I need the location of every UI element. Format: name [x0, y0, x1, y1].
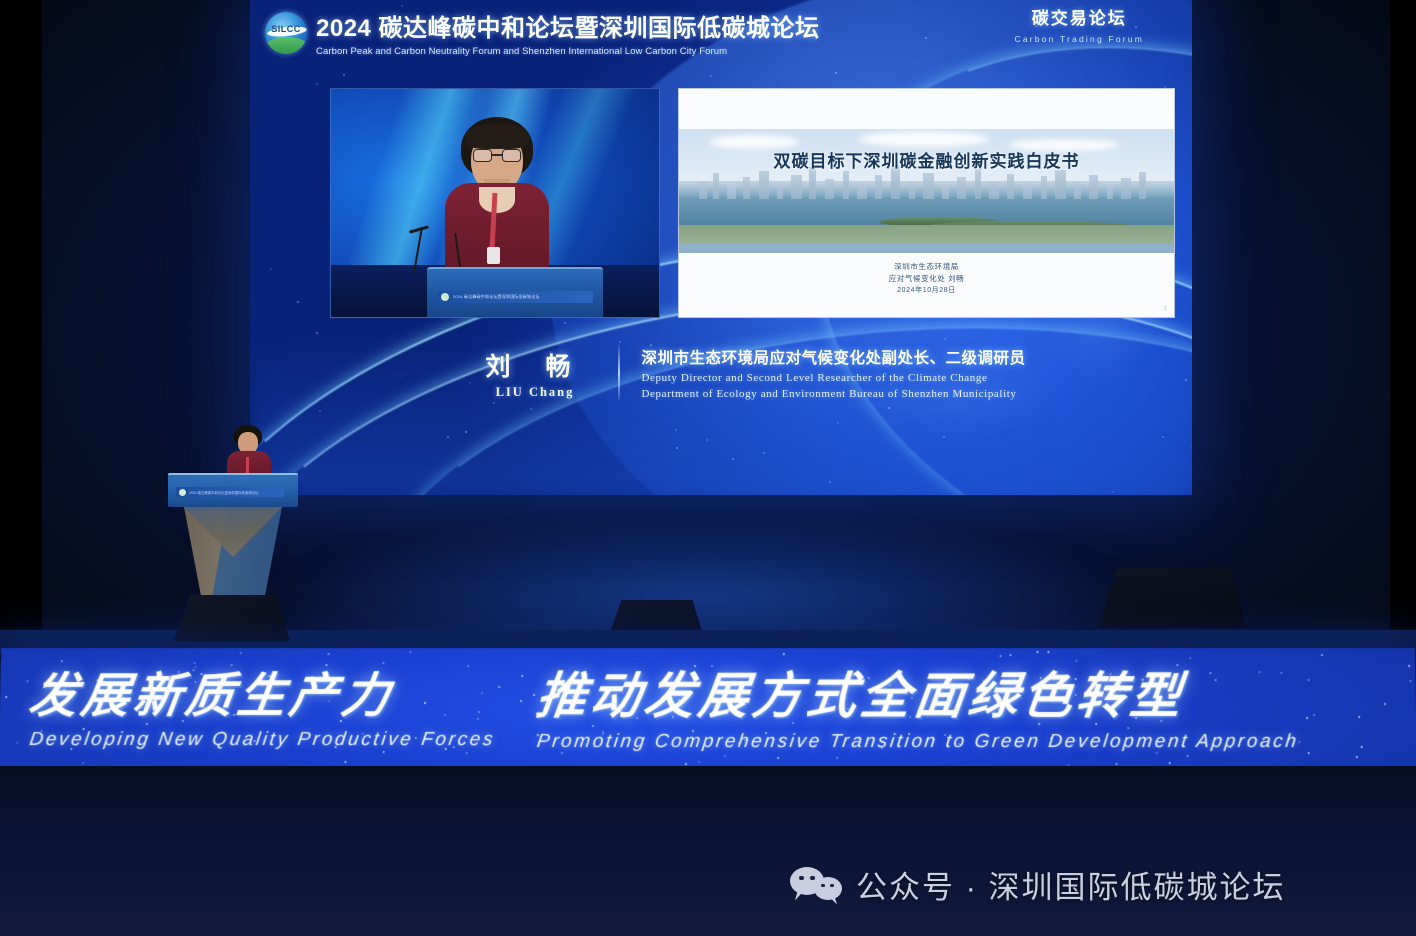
wechat-icon [790, 865, 842, 905]
slogan-right-en: Promoting Comprehensive Transition to Gr… [536, 731, 1300, 753]
stage-front-led-banner: 发展新质生产力 Developing New Quality Productiv… [0, 648, 1416, 770]
speaker-figure [427, 117, 567, 285]
slogan-left: 发展新质生产力 Developing New Quality Productiv… [29, 648, 495, 751]
main-led-wall: SILCC 2024 碳达峰碳中和论坛暨深圳国际低碳城论坛 Carbon Pea… [250, 0, 1192, 495]
slide-date: 2024年10月28日 [679, 286, 1174, 297]
slide-subtitle-block: 深圳市生态环境局 应对气候变化处 刘畅 2024年10月28日 [679, 261, 1174, 297]
speaker-name-zh: 刘 畅 [460, 347, 610, 383]
speaker-lower-third: 刘 畅 LIU Chang 深圳市生态环境局应对气候变化处副处长、二级调研员 D… [460, 338, 1192, 408]
name-divider [618, 345, 620, 401]
speaker-title-en-line1: Deputy Director and Second Level Researc… [642, 372, 1026, 384]
stage-monitor-right [1098, 568, 1246, 628]
feed-podium-nameplate-text: 2024 碳达峰碳中和论坛暨深圳国际低碳城论坛 [453, 294, 540, 300]
wall-header: SILCC 2024 碳达峰碳中和论坛暨深圳国际低碳城论坛 Carbon Pea… [250, 0, 1192, 62]
slide-dept-author: 应对气候变化处 刘畅 [679, 273, 1174, 285]
glasses-icon [473, 149, 521, 162]
forum-logo-lockup: SILCC 2024 碳达峰碳中和论坛暨深圳国际低碳城论坛 Carbon Pea… [265, 8, 820, 57]
silcc-logo-text: SILCC [265, 24, 307, 34]
slogan-right-zh: 推动发展方式全面绿色转型 [533, 656, 1302, 728]
speaker-name-en: LIU Chang [460, 385, 610, 400]
room-right-wall [1390, 0, 1416, 640]
slide-panel: 双碳目标下深圳碳金融创新实践白皮书 深圳市生态环境局 应对气候变化处 刘畅 20… [678, 88, 1175, 318]
feed-podium: 2024 碳达峰碳中和论坛暨深圳国际低碳城论坛 [427, 267, 603, 317]
slogan-right: 推动发展方式全面绿色转型 Promoting Comprehensive Tra… [537, 648, 1299, 753]
feed-podium-nameplate: 2024 碳达峰碳中和论坛暨深圳国际低碳城论坛 [437, 291, 593, 303]
silcc-logo-icon: SILCC [265, 12, 307, 54]
podium-desk: 2024 碳达峰碳中和论坛暨深圳国际低碳城论坛 [168, 473, 298, 507]
podium-nameplate-text: 2024 碳达峰碳中和论坛暨深圳国际低碳城论坛 [189, 490, 259, 495]
speaker-title-en-line2: Department of Ecology and Environment Bu… [642, 388, 1026, 400]
slide-page-number: 1 [1164, 306, 1167, 312]
podium-nameplate: 2024 碳达峰碳中和论坛暨深圳国际低碳城论坛 [176, 487, 284, 497]
forum-title-en: Carbon Peak and Carbon Neutrality Forum … [316, 46, 820, 57]
stage-monitor-left [174, 595, 290, 641]
session-title-en: Carbon Trading Forum [1014, 34, 1144, 44]
slogan-left-zh: 发展新质生产力 [25, 656, 499, 726]
wechat-watermark: 公众号 · 深圳国际低碳城论坛 [790, 862, 1286, 907]
slide-org: 深圳市生态环境局 [679, 261, 1174, 273]
wechat-watermark-text: 公众号 · 深圳国际低碳城论坛 [856, 862, 1286, 907]
stage-podium: 2024 碳达峰碳中和论坛暨深圳国际低碳城论坛 [168, 425, 298, 640]
session-label: 碳交易论坛 Carbon Trading Forum [1014, 4, 1144, 44]
room-left-wall [0, 0, 42, 660]
slogan-left-en: Developing New Quality Productive Forces [28, 729, 497, 751]
slide-divider-band [679, 244, 1174, 253]
speaker-title-zh: 深圳市生态环境局应对气候变化处副处长、二级调研员 [642, 346, 1026, 368]
session-title-zh: 碳交易论坛 [1014, 4, 1144, 29]
slide-title: 双碳目标下深圳碳金融创新实践白皮书 [679, 147, 1174, 172]
forum-title-zh: 2024 碳达峰碳中和论坛暨深圳国际低碳城论坛 [316, 8, 820, 43]
presentation-panels: 2024 碳达峰碳中和论坛暨深圳国际低碳城论坛 [330, 88, 1175, 318]
foreground-dark-area [0, 766, 1416, 936]
speaker-camera-feed: 2024 碳达峰碳中和论坛暨深圳国际低碳城论坛 [330, 88, 660, 318]
